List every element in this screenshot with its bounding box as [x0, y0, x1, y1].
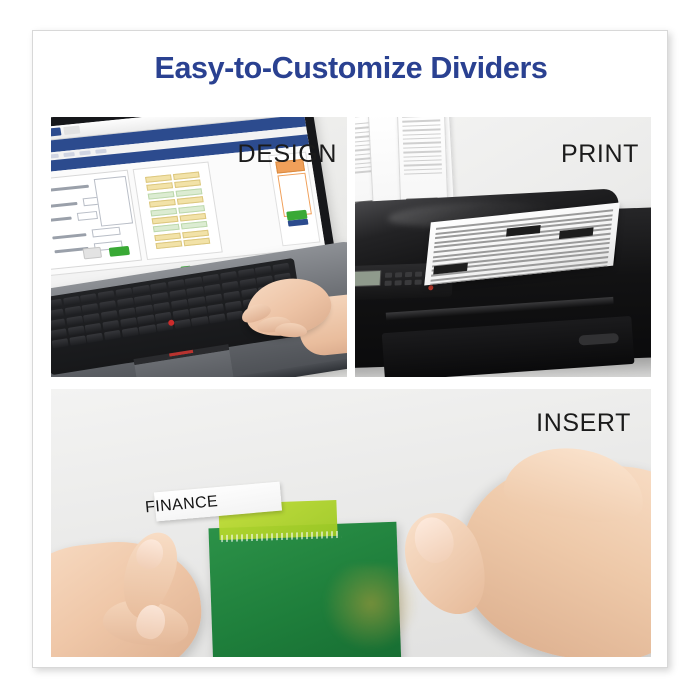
browser-tab [63, 125, 80, 135]
template-tab-cell [154, 232, 181, 241]
paper-output-slot [386, 297, 614, 321]
hand-on-trackpad [227, 275, 347, 377]
browser-tab-active [51, 127, 61, 137]
form-preview-box [94, 176, 133, 227]
page-title: Easy-to-Customize Dividers [33, 51, 669, 86]
template-tab-cell [173, 171, 200, 180]
tray-handle[interactable] [578, 333, 619, 346]
power-button[interactable] [428, 285, 433, 290]
template-tab-cell [182, 229, 209, 238]
nav-chip [51, 154, 59, 159]
panel-label-insert: INSERT [536, 409, 631, 438]
template-tab-cell [180, 213, 207, 222]
template-tab-cell [156, 241, 183, 250]
panel-label-print: PRINT [561, 140, 639, 169]
template-tab-cell [176, 188, 203, 197]
panel-print: PRINT [355, 117, 651, 377]
design-form-panel [51, 170, 142, 270]
panel-label-design: DESIGN [238, 140, 337, 169]
template-tab-cell [174, 180, 201, 189]
template-tab-grid [145, 171, 210, 248]
left-hand [51, 509, 261, 657]
nav-chip [79, 150, 91, 155]
template-tab-cell [152, 216, 179, 225]
form-input [77, 211, 98, 221]
form-label [51, 202, 78, 208]
template-tab-cell [148, 191, 175, 200]
template-tab-cell [149, 199, 176, 208]
right-hand [391, 445, 651, 657]
panel-design: DESIGN [51, 117, 347, 377]
template-tab-cell [150, 207, 177, 216]
product-image-card: Easy-to-Customize Dividers [32, 30, 668, 668]
template-tab-cell [153, 224, 180, 233]
template-tab-cell [184, 238, 211, 247]
form-apply-button[interactable] [109, 246, 130, 257]
screenshot-root: Easy-to-Customize Dividers [0, 0, 700, 700]
form-cancel-button[interactable] [82, 247, 102, 260]
form-input [92, 227, 121, 238]
template-tab-cell [146, 183, 173, 192]
panel-insert: FINANCE INSERT [51, 389, 651, 657]
template-preview-panel [133, 161, 223, 260]
template-tab-cell [181, 221, 208, 230]
form-label [51, 217, 72, 222]
sheet-print-lines [402, 117, 442, 178]
nav-chip [63, 152, 75, 157]
nav-chip [95, 149, 107, 154]
template-tab-cell [145, 174, 172, 183]
template-tab-cell [177, 196, 204, 205]
form-heading-line [51, 185, 89, 192]
printer-lcd-display [355, 270, 381, 287]
form-label [52, 233, 86, 239]
template-tab-cell [178, 205, 205, 214]
